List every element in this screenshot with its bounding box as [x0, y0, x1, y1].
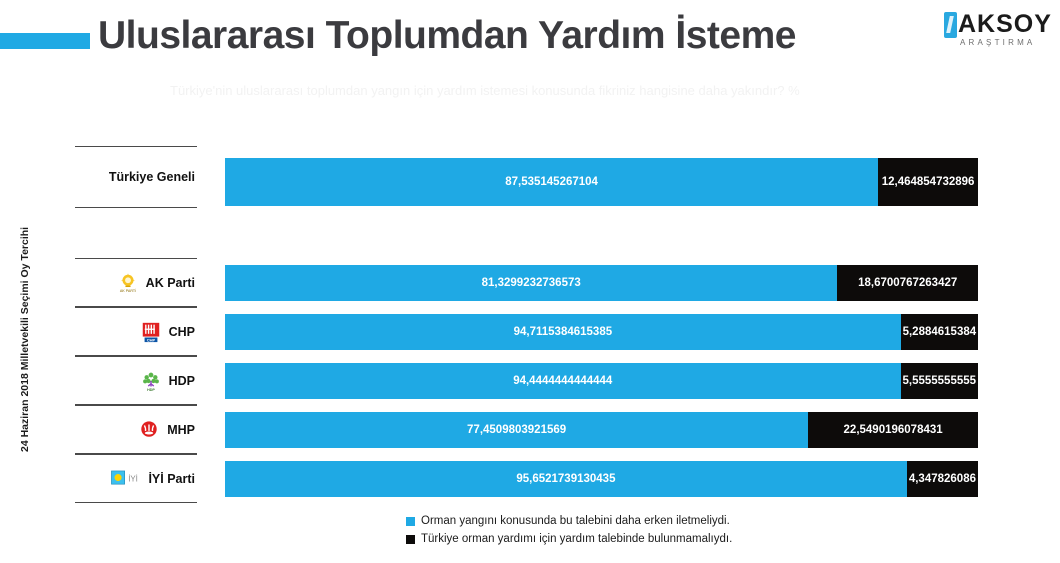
bar-value-disagree: 22,5490196078431: [840, 424, 947, 436]
stacked-bar-chart: 24 Haziran 2018 Milletvekili Seçimi Oy T…: [0, 108, 1060, 563]
chart-row: Türkiye Geneli87,53514526710412,46485473…: [0, 146, 1060, 208]
logo-mark-icon: [944, 12, 957, 38]
legend-swatch-icon: [406, 535, 415, 544]
row-label-cell: Türkiye Geneli: [75, 146, 197, 208]
chart-subtitle: Türkiye'nin uluslararası toplumdan yangı…: [170, 83, 800, 98]
row-label: MHP: [167, 423, 195, 437]
row-label: İYİ Parti: [148, 472, 195, 486]
chart-row: İYİİYİ Parti95,65217391304354,347826086: [0, 454, 1060, 503]
stacked-bar[interactable]: 95,65217391304354,347826086: [225, 461, 978, 497]
row-label: HDP: [169, 374, 195, 388]
svg-text:HDP: HDP: [147, 388, 155, 392]
chp-logo-icon: CHP: [140, 321, 162, 343]
row-label-cell: AK PARTİAK Parti: [75, 258, 197, 307]
svg-text:AK PARTİ: AK PARTİ: [120, 288, 136, 293]
akparti-logo-icon: AK PARTİ: [117, 272, 139, 294]
bar-segment-agree[interactable]: 81,3299232736573: [225, 265, 837, 301]
bar-segment-disagree[interactable]: 5,5555555555: [901, 363, 978, 399]
bar-value-agree: 95,6521739130435: [516, 473, 615, 485]
svg-text:CHP: CHP: [146, 337, 155, 342]
stacked-bar[interactable]: 87,53514526710412,464854732896: [225, 158, 978, 206]
row-label: AK Parti: [146, 276, 195, 290]
legend-item[interactable]: Orman yangını konusunda bu talebini daha…: [406, 515, 826, 527]
chart-row: HDPHDP94,44444444444445,5555555555: [0, 356, 1060, 405]
bar-value-disagree: 5,5555555555: [901, 375, 978, 387]
bar-segment-agree[interactable]: 94,7115384615385: [225, 314, 901, 350]
bar-segment-agree[interactable]: 95,6521739130435: [225, 461, 907, 497]
mhp-logo-icon: [138, 419, 160, 441]
bar-segment-agree[interactable]: 94,4444444444444: [225, 363, 901, 399]
bar-segment-agree[interactable]: 77,4509803921569: [225, 412, 808, 448]
stacked-bar[interactable]: 77,450980392156922,5490196078431: [225, 412, 978, 448]
chart-legend: Orman yangını konusunda bu talebini daha…: [406, 515, 826, 551]
logo-subtitle: ARAŞTIRMA: [960, 38, 1035, 47]
bar-segment-disagree[interactable]: 5,2884615384: [901, 314, 978, 350]
stacked-bar[interactable]: 94,44444444444445,5555555555: [225, 363, 978, 399]
bar-segment-disagree[interactable]: 22,5490196078431: [808, 412, 978, 448]
accent-bar: [0, 33, 90, 49]
legend-swatch-icon: [406, 517, 415, 526]
stacked-bar[interactable]: 94,71153846153855,2884615384: [225, 314, 978, 350]
bar-value-agree: 94,4444444444444: [513, 375, 612, 387]
row-label: CHP: [169, 325, 195, 339]
chart-row: CHPCHP94,71153846153855,2884615384: [0, 307, 1060, 356]
row-label-cell: CHPCHP: [75, 307, 197, 356]
bar-value-disagree: 4,347826086: [907, 473, 978, 485]
stacked-bar[interactable]: 81,329923273657318,6700767263427: [225, 265, 978, 301]
row-label-cell: MHP: [75, 405, 197, 454]
bar-value-agree: 87,535145267104: [505, 176, 598, 188]
legend-item[interactable]: Türkiye orman yardımı için yardım talebi…: [406, 533, 826, 545]
page-title: Uluslararası Toplumdan Yardım İsteme: [98, 14, 796, 58]
bar-segment-disagree[interactable]: 4,347826086: [907, 461, 978, 497]
legend-label: Orman yangını konusunda bu talebini daha…: [421, 515, 730, 527]
bar-value-disagree: 18,6700767263427: [854, 277, 961, 289]
logo-name: AKSOY: [958, 10, 1052, 39]
svg-text:İYİ: İYİ: [129, 474, 139, 483]
legend-label: Türkiye orman yardımı için yardım talebi…: [421, 533, 732, 545]
chart-row: AK PARTİAK Parti81,329923273657318,67007…: [0, 258, 1060, 307]
chart-header: Uluslararası Toplumdan Yardım İsteme Tür…: [0, 0, 1060, 75]
chart-row: MHP77,450980392156922,5490196078431: [0, 405, 1060, 454]
row-label-cell: HDPHDP: [75, 356, 197, 405]
bar-value-agree: 94,7115384615385: [514, 326, 613, 338]
row-label-cell: İYİİYİ Parti: [75, 454, 197, 503]
bar-segment-agree[interactable]: 87,535145267104: [225, 158, 878, 206]
bar-value-agree: 81,3299232736573: [482, 277, 581, 289]
iyiparti-logo-icon: İYİ: [111, 468, 141, 490]
bar-segment-disagree[interactable]: 18,6700767263427: [837, 265, 978, 301]
bar-value-disagree: 12,464854732896: [878, 176, 978, 188]
bar-segment-disagree[interactable]: 12,464854732896: [878, 158, 978, 206]
aksoy-logo: AKSOY ARAŞTIRMA: [936, 10, 1054, 54]
hdp-logo-icon: HDP: [140, 370, 162, 392]
row-label: Türkiye Geneli: [109, 170, 195, 184]
bar-value-disagree: 5,2884615384: [901, 326, 978, 338]
bar-value-agree: 77,4509803921569: [467, 424, 566, 436]
